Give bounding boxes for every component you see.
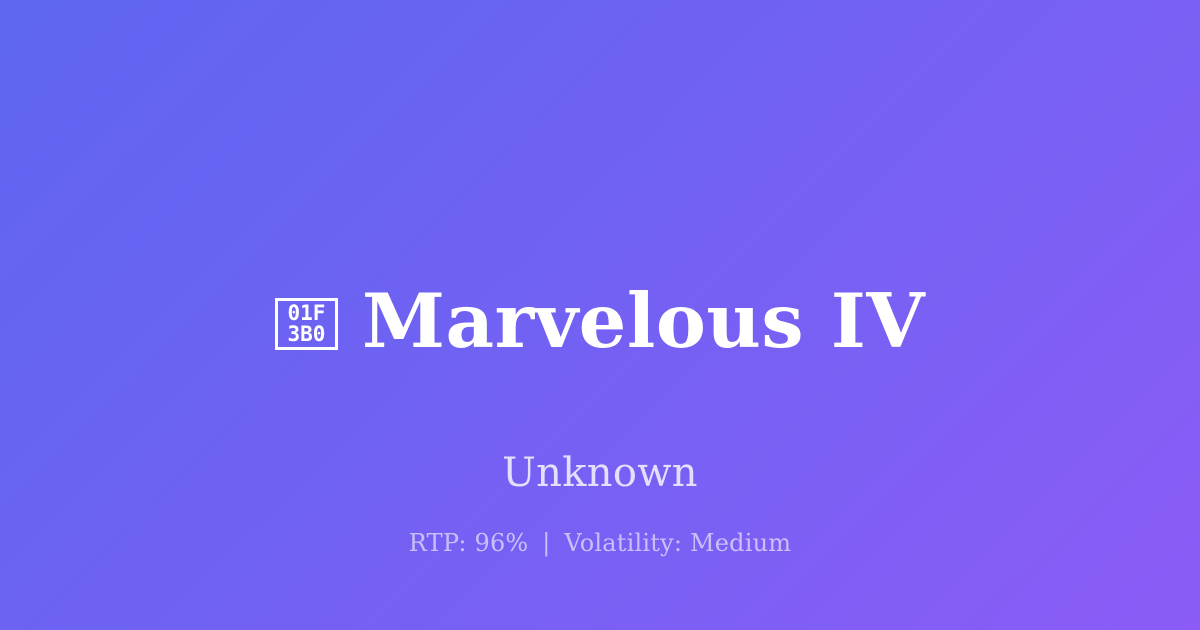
rtp-label: RTP: bbox=[409, 529, 467, 557]
provider-subtitle: Unknown bbox=[502, 449, 698, 497]
page-title: Marvelous IV bbox=[362, 282, 925, 361]
og-preview-card: 01F 3B0 Marvelous IV Unknown RTP: 96% | … bbox=[0, 0, 1200, 630]
volatility-label: Volatility: bbox=[564, 529, 682, 557]
slot-machine-icon: 01F 3B0 bbox=[275, 298, 338, 350]
hero-block: 01F 3B0 Marvelous IV Unknown bbox=[0, 232, 1200, 497]
stats-separator: | bbox=[536, 529, 556, 557]
title-row: 01F 3B0 Marvelous IV bbox=[275, 232, 925, 411]
volatility-value: Medium bbox=[690, 529, 791, 557]
game-stats-line: RTP: 96% | Volatility: Medium bbox=[0, 528, 1200, 559]
rtp-value: 96% bbox=[474, 529, 528, 557]
tofu-codepoint-upper: 01F bbox=[287, 303, 325, 324]
tofu-codepoint-lower: 3B0 bbox=[287, 324, 325, 345]
